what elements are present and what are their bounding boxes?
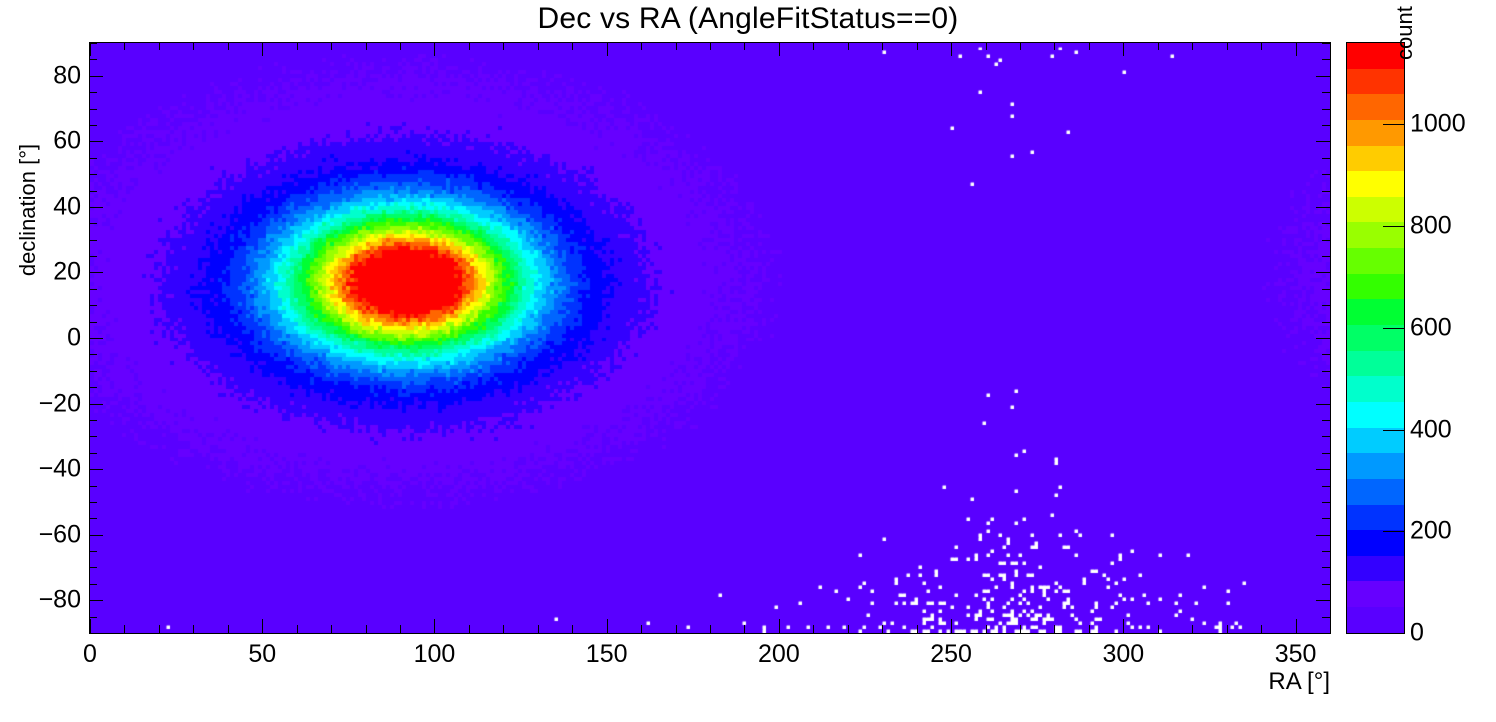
y-minor-tick [89, 43, 97, 44]
x-minor-tick-top [124, 42, 125, 50]
y-major-tick [89, 535, 103, 536]
x-axis-title: RA [°] [1180, 668, 1330, 696]
y-minor-tick-right [1322, 43, 1330, 44]
y-minor-tick-right [1322, 453, 1330, 454]
y-minor-tick [89, 453, 97, 454]
x-minor-tick [503, 625, 504, 633]
y-minor-tick [89, 59, 97, 60]
color-band [1347, 69, 1404, 95]
x-minor-tick-top [848, 42, 849, 50]
x-minor-tick-top [917, 42, 918, 50]
y-axis-label: 40 [5, 192, 81, 221]
x-minor-tick [1054, 625, 1055, 633]
y-minor-tick [89, 322, 97, 323]
y-minor-tick-right [1322, 240, 1330, 241]
y-minor-tick [89, 371, 97, 372]
y-minor-tick-right [1322, 158, 1330, 159]
y-minor-tick-right [1322, 289, 1330, 290]
x-minor-tick-top [366, 42, 367, 50]
color-band [1347, 197, 1404, 223]
y-minor-tick [89, 174, 97, 175]
x-minor-tick [400, 625, 401, 633]
color-band [1347, 376, 1404, 402]
x-minor-tick-top [228, 42, 229, 50]
color-scale-tick [1383, 531, 1405, 532]
x-minor-tick-top [297, 42, 298, 50]
x-minor-tick [676, 625, 677, 633]
y-minor-tick [89, 191, 97, 192]
y-minor-tick [89, 551, 97, 552]
x-minor-tick-top [986, 42, 987, 50]
color-scale-tick [1383, 430, 1405, 431]
x-major-tick-top [779, 42, 780, 56]
y-minor-tick-right [1322, 191, 1330, 192]
y-minor-tick [89, 617, 97, 618]
y-minor-tick-right [1322, 551, 1330, 552]
x-minor-tick-top [744, 42, 745, 50]
x-major-tick-top [1123, 42, 1124, 56]
y-minor-tick-right [1322, 486, 1330, 487]
x-minor-tick [469, 625, 470, 633]
color-scale-label: 1000 [1410, 110, 1466, 139]
y-major-tick [89, 600, 103, 601]
x-major-tick [1296, 619, 1297, 633]
x-minor-tick-top [1261, 42, 1262, 50]
x-minor-tick [124, 625, 125, 633]
y-minor-tick-right [1322, 633, 1330, 634]
x-major-tick [951, 619, 952, 633]
x-minor-tick-top [710, 42, 711, 50]
y-major-tick-right [1316, 338, 1330, 339]
color-scale-bar [1346, 42, 1405, 634]
x-minor-tick-top [572, 42, 573, 50]
x-minor-tick [848, 625, 849, 633]
x-minor-tick-top [813, 42, 814, 50]
x-minor-tick [641, 625, 642, 633]
color-scale-tick [1383, 226, 1405, 227]
y-major-tick-right [1316, 207, 1330, 208]
x-minor-tick-top [193, 42, 194, 50]
x-minor-tick [1020, 625, 1021, 633]
x-minor-tick [572, 625, 573, 633]
x-minor-tick [331, 625, 332, 633]
y-major-tick-right [1316, 469, 1330, 470]
y-minor-tick [89, 240, 97, 241]
y-axis-label: 20 [5, 258, 81, 287]
x-minor-tick [366, 625, 367, 633]
color-scale-label: 800 [1410, 212, 1452, 241]
x-major-tick-top [607, 42, 608, 56]
x-minor-tick [297, 625, 298, 633]
y-minor-tick-right [1322, 584, 1330, 585]
x-axis-label: 200 [758, 640, 800, 669]
x-minor-tick [1261, 625, 1262, 633]
color-band [1347, 248, 1404, 274]
y-minor-tick-right [1322, 354, 1330, 355]
color-band [1347, 581, 1404, 607]
y-minor-tick-right [1322, 567, 1330, 568]
x-minor-tick [1192, 625, 1193, 633]
y-minor-tick [89, 354, 97, 355]
x-minor-tick-top [1020, 42, 1021, 50]
y-minor-tick [89, 502, 97, 503]
color-band [1347, 453, 1404, 479]
y-axis-label: 60 [5, 127, 81, 156]
x-major-tick-top [262, 42, 263, 56]
y-minor-tick [89, 125, 97, 126]
y-minor-tick-right [1322, 436, 1330, 437]
x-minor-tick-top [503, 42, 504, 50]
y-major-tick-right [1316, 141, 1330, 142]
y-minor-tick-right [1322, 109, 1330, 110]
y-minor-tick-right [1322, 322, 1330, 323]
y-minor-tick [89, 92, 97, 93]
color-band [1347, 171, 1404, 197]
y-major-tick-right [1316, 535, 1330, 536]
y-major-tick [89, 404, 103, 405]
y-minor-tick [89, 256, 97, 257]
y-minor-tick-right [1322, 387, 1330, 388]
x-minor-tick-top [1330, 42, 1331, 50]
y-major-tick [89, 141, 103, 142]
y-major-tick-right [1316, 600, 1330, 601]
x-minor-tick [882, 625, 883, 633]
histogram-canvas [90, 43, 1330, 633]
color-scale-title: count [1392, 0, 1418, 60]
x-major-tick [779, 619, 780, 633]
y-minor-tick [89, 223, 97, 224]
y-major-tick [89, 338, 103, 339]
color-band [1347, 556, 1404, 582]
y-minor-tick-right [1322, 305, 1330, 306]
x-major-tick [1123, 619, 1124, 633]
y-minor-tick [89, 305, 97, 306]
y-minor-tick [89, 436, 97, 437]
x-major-tick [434, 619, 435, 633]
y-minor-tick-right [1322, 223, 1330, 224]
x-minor-tick-top [1158, 42, 1159, 50]
x-minor-tick-top [882, 42, 883, 50]
x-major-tick [262, 619, 263, 633]
x-minor-tick [228, 625, 229, 633]
y-minor-tick-right [1322, 420, 1330, 421]
x-minor-tick-top [331, 42, 332, 50]
x-minor-tick [1227, 625, 1228, 633]
x-minor-tick-top [1054, 42, 1055, 50]
x-minor-tick-top [538, 42, 539, 50]
x-major-tick [607, 619, 608, 633]
x-major-tick [90, 619, 91, 633]
color-scale-label: 200 [1410, 517, 1452, 546]
x-minor-tick [159, 625, 160, 633]
y-axis-label: 0 [5, 324, 81, 353]
color-band [1347, 146, 1404, 172]
color-band [1347, 479, 1404, 505]
color-band [1347, 402, 1404, 428]
x-axis-label: 150 [586, 640, 628, 669]
color-scale-tick [1383, 124, 1405, 125]
x-minor-tick [538, 625, 539, 633]
y-minor-tick [89, 518, 97, 519]
y-minor-tick [89, 387, 97, 388]
y-minor-tick [89, 289, 97, 290]
x-axis-label: 250 [930, 640, 972, 669]
y-minor-tick-right [1322, 174, 1330, 175]
x-axis-label: 100 [414, 640, 456, 669]
y-axis-label: −20 [5, 389, 81, 418]
y-major-tick [89, 272, 103, 273]
y-minor-tick-right [1322, 617, 1330, 618]
color-band [1347, 505, 1404, 531]
x-minor-tick-top [1089, 42, 1090, 50]
x-axis-label: 300 [1102, 640, 1144, 669]
y-minor-tick [89, 584, 97, 585]
color-band [1347, 94, 1404, 120]
x-minor-tick-top [1227, 42, 1228, 50]
y-minor-tick [89, 486, 97, 487]
x-minor-tick [744, 625, 745, 633]
color-band [1347, 325, 1404, 351]
color-band [1347, 530, 1404, 556]
x-minor-tick-top [1192, 42, 1193, 50]
y-minor-tick [89, 420, 97, 421]
y-axis-label: −80 [5, 586, 81, 615]
y-minor-tick-right [1322, 59, 1330, 60]
y-minor-tick-right [1322, 256, 1330, 257]
x-minor-tick [1089, 625, 1090, 633]
y-axis-label: −40 [5, 455, 81, 484]
color-band [1347, 428, 1404, 454]
x-minor-tick [710, 625, 711, 633]
x-minor-tick-top [641, 42, 642, 50]
x-minor-tick [986, 625, 987, 633]
y-minor-tick [89, 567, 97, 568]
y-minor-tick-right [1322, 92, 1330, 93]
x-minor-tick-top [676, 42, 677, 50]
x-axis-label: 50 [248, 640, 276, 669]
y-major-tick-right [1316, 272, 1330, 273]
y-axis-label: −60 [5, 520, 81, 549]
y-minor-tick-right [1322, 371, 1330, 372]
x-minor-tick-top [469, 42, 470, 50]
color-scale-label: 600 [1410, 313, 1452, 342]
x-minor-tick [193, 625, 194, 633]
color-scale-tick [1383, 328, 1405, 329]
y-minor-tick-right [1322, 502, 1330, 503]
x-major-tick-top [434, 42, 435, 56]
x-minor-tick-top [400, 42, 401, 50]
x-axis-label: 350 [1275, 640, 1317, 669]
plot-root: Dec vs RA (AngleFitStatus==0) declinatio… [0, 0, 1496, 722]
color-band [1347, 274, 1404, 300]
y-major-tick-right [1316, 76, 1330, 77]
x-minor-tick [1330, 625, 1331, 633]
y-minor-tick [89, 158, 97, 159]
chart-title: Dec vs RA (AngleFitStatus==0) [0, 2, 1496, 36]
y-axis-label: 80 [5, 61, 81, 90]
color-band [1347, 351, 1404, 377]
color-scale-label: 400 [1410, 415, 1452, 444]
color-scale-label: 0 [1410, 619, 1424, 648]
y-minor-tick-right [1322, 125, 1330, 126]
color-band [1347, 607, 1404, 633]
y-major-tick [89, 76, 103, 77]
x-minor-tick [1158, 625, 1159, 633]
y-major-tick [89, 207, 103, 208]
x-major-tick-top [90, 42, 91, 56]
y-minor-tick [89, 109, 97, 110]
x-major-tick-top [1296, 42, 1297, 56]
color-band [1347, 299, 1404, 325]
x-minor-tick [917, 625, 918, 633]
x-minor-tick [813, 625, 814, 633]
x-minor-tick-top [159, 42, 160, 50]
y-major-tick [89, 469, 103, 470]
y-minor-tick-right [1322, 518, 1330, 519]
y-major-tick-right [1316, 404, 1330, 405]
x-major-tick-top [951, 42, 952, 56]
y-minor-tick [89, 633, 97, 634]
x-axis-label: 0 [83, 640, 97, 669]
